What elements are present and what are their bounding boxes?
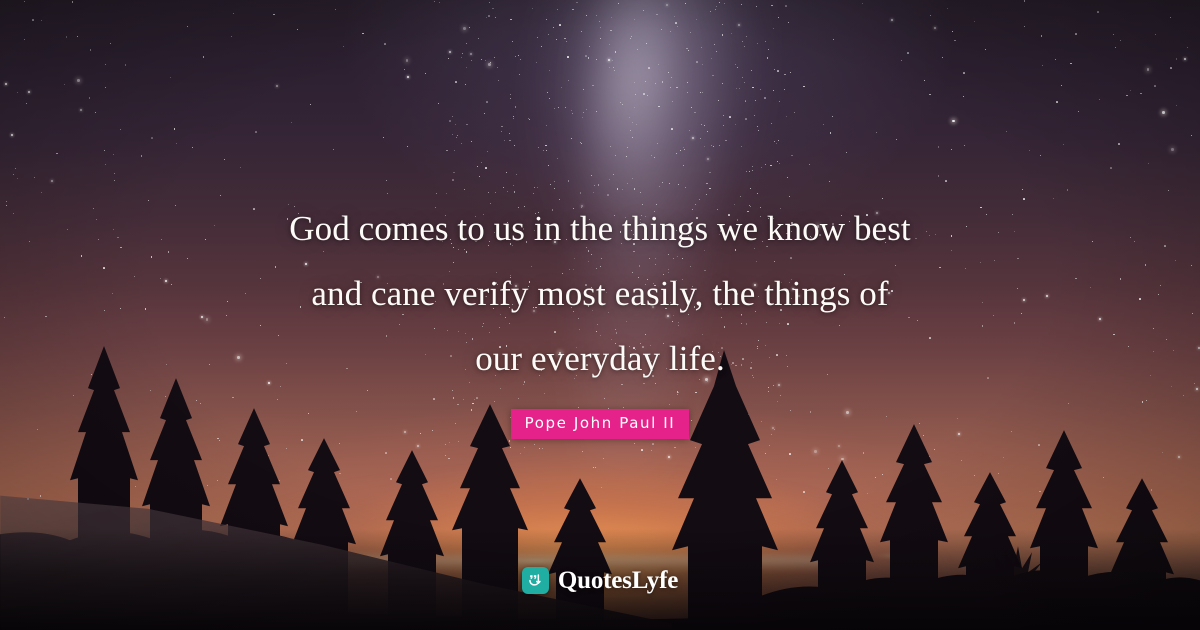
quote-line: our everyday life. [190, 326, 1010, 391]
quote-line: and cane verify most easily, the things … [190, 261, 1010, 326]
quote-line: God comes to us in the things we know be… [190, 196, 1010, 261]
author-badge: Pope John Paul II [511, 409, 690, 439]
brand-name: QuotesLyfe [558, 568, 678, 593]
quote-smiley-icon [522, 567, 549, 594]
quote-text: God comes to us in the things we know be… [190, 196, 1010, 391]
brand-logo[interactable]: QuotesLyfe [0, 567, 1200, 594]
quote-card: God comes to us in the things we know be… [0, 0, 1200, 630]
card-content: God comes to us in the things we know be… [0, 0, 1200, 630]
